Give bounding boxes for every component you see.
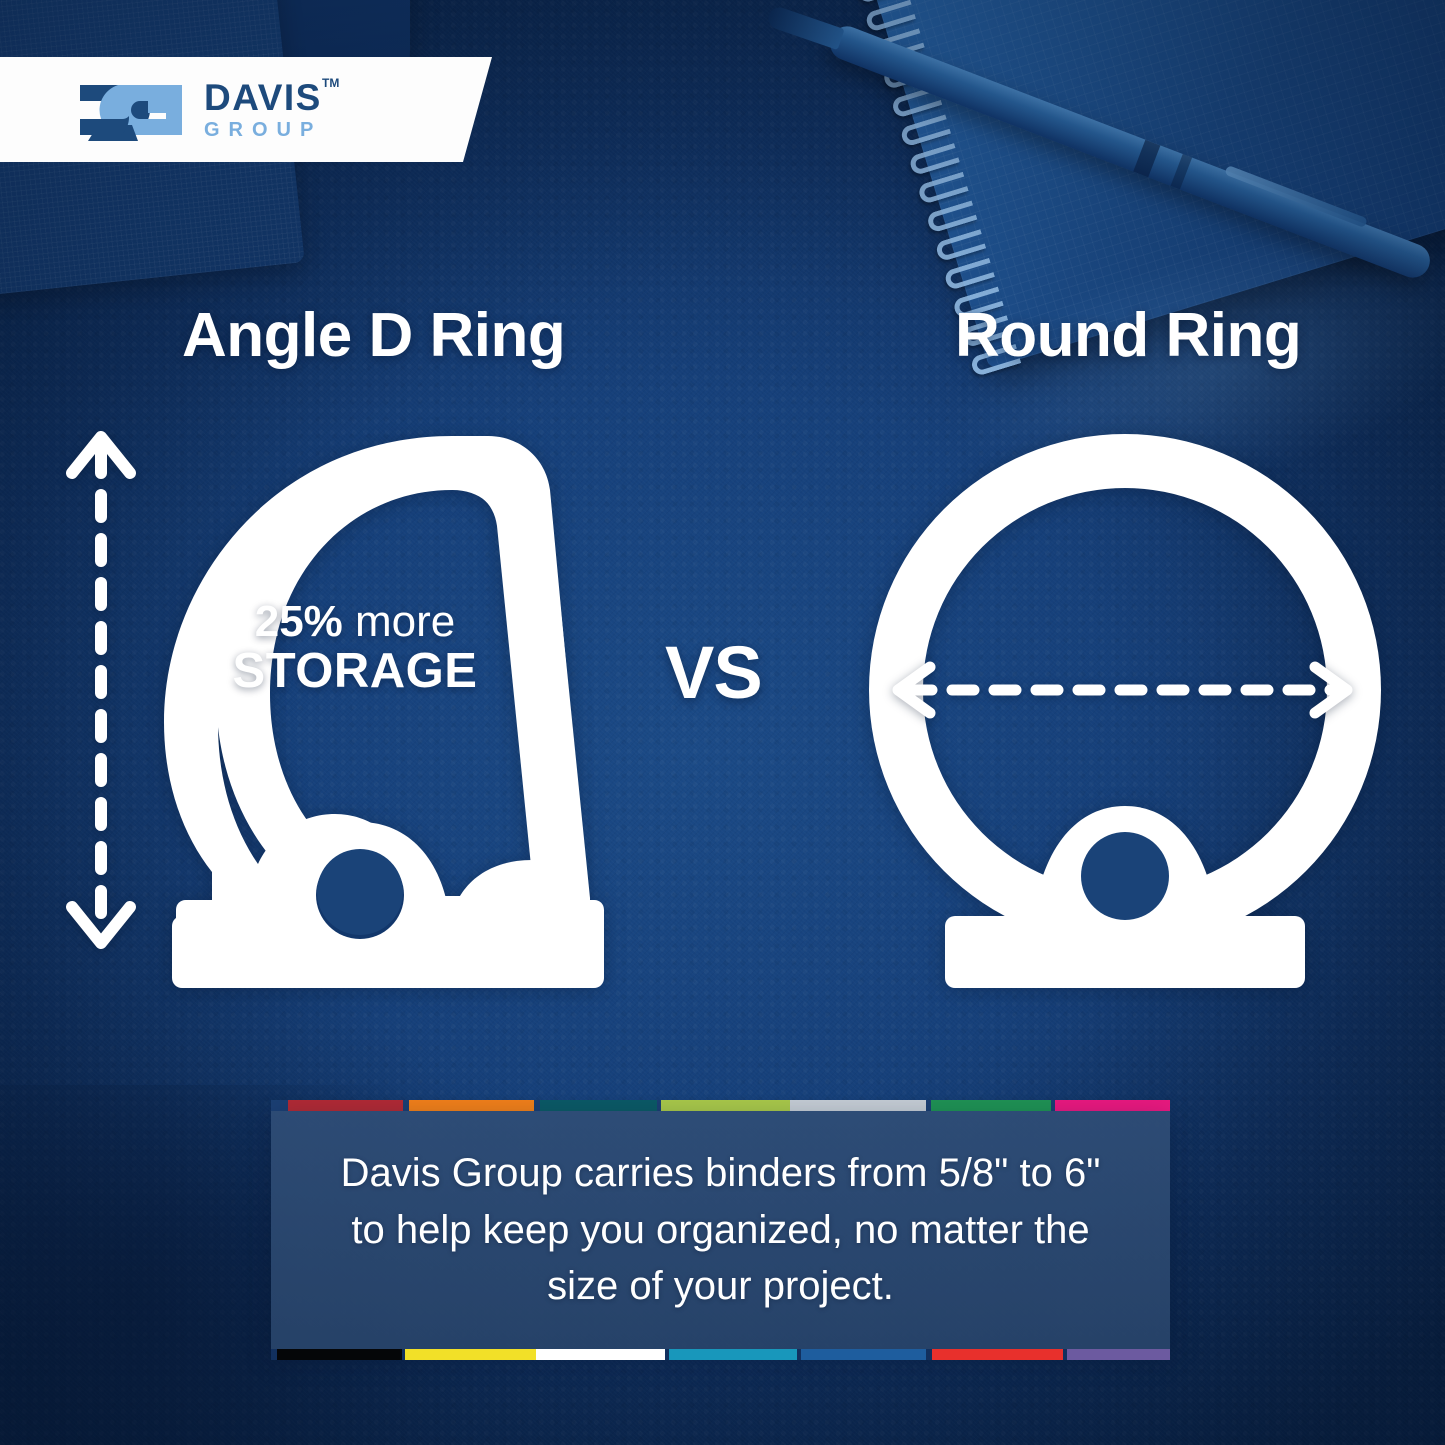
color-bar-segment bbox=[405, 1349, 536, 1360]
color-bar-segment bbox=[1055, 1100, 1170, 1111]
logo-name-secondary: GROUP bbox=[204, 120, 322, 140]
logo-wordmark: DAVIS TM GROUP bbox=[204, 79, 322, 140]
color-bar-segment bbox=[669, 1349, 797, 1360]
color-bar-segment bbox=[540, 1100, 657, 1111]
heading-angle-d-ring: Angle D Ring bbox=[182, 300, 565, 371]
color-bar-segment bbox=[409, 1100, 535, 1111]
color-bar-top bbox=[271, 1100, 1170, 1111]
brand-logo-bar: DAVIS TM GROUP bbox=[0, 57, 492, 162]
color-bar-segment bbox=[801, 1349, 926, 1360]
storage-more: more bbox=[343, 597, 455, 646]
horizontal-double-arrow-dashed-icon bbox=[890, 655, 1355, 725]
logo-name-primary: DAVIS bbox=[204, 79, 322, 116]
trademark-symbol: TM bbox=[322, 77, 339, 89]
color-bar-bottom bbox=[271, 1349, 1170, 1360]
storage-percent: 25% bbox=[255, 597, 343, 646]
color-bar-segment bbox=[288, 1100, 403, 1111]
footer-panel-body: Davis Group carries binders from 5/8" to… bbox=[271, 1111, 1170, 1349]
logo-lockup: DAVIS TM GROUP bbox=[78, 77, 322, 143]
color-bar-segment bbox=[790, 1100, 927, 1111]
infographic-canvas: DAVIS TM GROUP Angle D Ring Round Ring bbox=[0, 0, 1445, 1445]
color-bar-segment bbox=[536, 1349, 664, 1360]
storage-callout-line2: STORAGE bbox=[205, 647, 505, 697]
footer-message-text: Davis Group carries binders from 5/8" to… bbox=[326, 1145, 1116, 1315]
heading-round-ring: Round Ring bbox=[955, 300, 1301, 371]
color-bar-segment bbox=[277, 1349, 402, 1360]
footer-message-panel: Davis Group carries binders from 5/8" to… bbox=[271, 1100, 1170, 1360]
color-bar-segment bbox=[661, 1100, 789, 1111]
color-bar-segment bbox=[1067, 1349, 1170, 1360]
vs-label: VS bbox=[665, 630, 762, 715]
dg-monogram-icon bbox=[78, 77, 190, 143]
color-bar-segment bbox=[271, 1100, 288, 1111]
color-bar-segment bbox=[932, 1349, 1063, 1360]
storage-callout: 25% more STORAGE bbox=[205, 600, 505, 697]
angle-d-ring-icon bbox=[120, 430, 660, 990]
storage-callout-line1: 25% more bbox=[205, 600, 505, 645]
color-bar-segment bbox=[931, 1100, 1051, 1111]
